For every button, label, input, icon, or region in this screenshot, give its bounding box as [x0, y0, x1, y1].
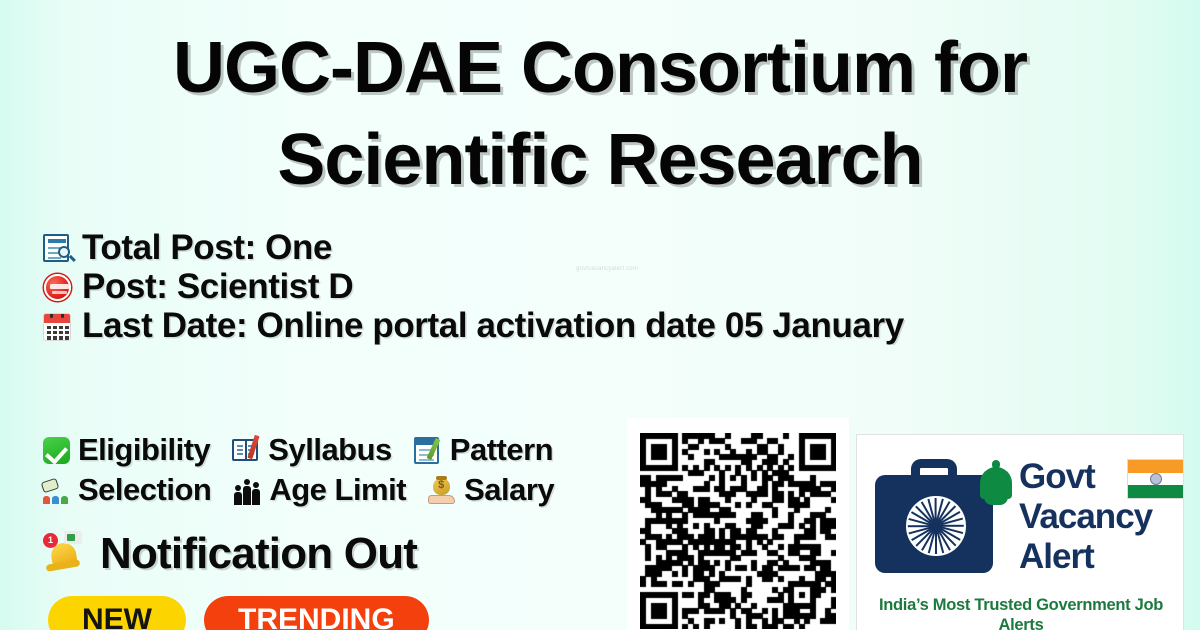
title-line-2: Scientific Research	[0, 114, 1200, 206]
ashoka-chakra-icon	[903, 493, 969, 559]
feature-row-1: Eligibility Syllabus Pattern	[40, 430, 680, 470]
status-badges: NEW TRENDING	[48, 596, 429, 630]
feature-eligibility[interactable]: Eligibility	[40, 432, 230, 468]
document-search-icon	[40, 231, 76, 265]
india-flag-icon	[1127, 459, 1184, 499]
info-row-post: Post: Scientist D	[40, 267, 1200, 306]
info-list: Total Post: One Post: Scientist D Last D…	[40, 228, 1200, 345]
green-bell-icon	[974, 459, 1018, 507]
info-text-post: Post: Scientist D	[82, 267, 353, 306]
money-bag-icon	[426, 474, 460, 506]
feature-label-age-limit: Age Limit	[269, 472, 406, 508]
qr-code[interactable]	[640, 433, 836, 629]
feature-label-selection: Selection	[78, 472, 211, 508]
title-line-1: UGC-DAE Consortium for	[0, 22, 1200, 114]
feature-pattern[interactable]: Pattern	[412, 432, 573, 468]
notification-text: Notification Out	[100, 528, 417, 580]
red-stamp-icon	[40, 270, 76, 304]
notification-banner: 1 Notification Out	[42, 528, 417, 580]
badge-trending[interactable]: TRENDING	[204, 596, 429, 630]
info-text-total-post: Total Post: One	[82, 228, 332, 267]
bell-badge-count: 1	[43, 533, 58, 548]
brand-tagline: India’s Most Trusted Government Job Aler…	[857, 595, 1184, 630]
brand-word-alert: Alert	[1019, 537, 1171, 577]
feature-grid: Eligibility Syllabus Pattern Selection	[40, 430, 680, 510]
feature-label-syllabus: Syllabus	[268, 432, 392, 468]
feature-syllabus[interactable]: Syllabus	[230, 432, 412, 468]
brand-logo-mark: Govt Vacancy Alert	[871, 453, 1171, 581]
feature-label-eligibility: Eligibility	[78, 432, 210, 468]
info-text-last-date: Last Date: Online portal activation date…	[82, 306, 904, 345]
feature-label-pattern: Pattern	[450, 432, 553, 468]
open-book-pen-icon	[230, 434, 264, 466]
hand-selection-icon	[40, 474, 74, 506]
brand-logo-card: Govt Vacancy Alert India’s Most Trusted …	[856, 434, 1184, 630]
exam-paper-icon	[412, 434, 446, 466]
feature-age-limit[interactable]: Age Limit	[231, 472, 426, 508]
poster-title: UGC-DAE Consortium for Scientific Resear…	[0, 22, 1200, 206]
bell-notification-icon: 1	[42, 531, 88, 577]
info-row-total-post: Total Post: One	[40, 228, 1200, 267]
feature-salary[interactable]: Salary	[426, 472, 574, 508]
info-row-last-date: Last Date: Online portal activation date…	[40, 306, 1200, 345]
feature-label-salary: Salary	[464, 472, 554, 508]
feature-selection[interactable]: Selection	[40, 472, 231, 508]
brand-word-vacancy: Vacancy	[1019, 497, 1171, 537]
feature-row-2: Selection Age Limit Salary	[40, 470, 680, 510]
green-check-icon	[40, 434, 74, 466]
family-people-icon	[231, 474, 265, 506]
calendar-icon	[40, 309, 76, 343]
poster-canvas: UGC-DAE Consortium for Scientific Resear…	[0, 0, 1200, 630]
badge-new[interactable]: NEW	[48, 596, 186, 630]
qr-code-panel[interactable]	[627, 418, 849, 630]
